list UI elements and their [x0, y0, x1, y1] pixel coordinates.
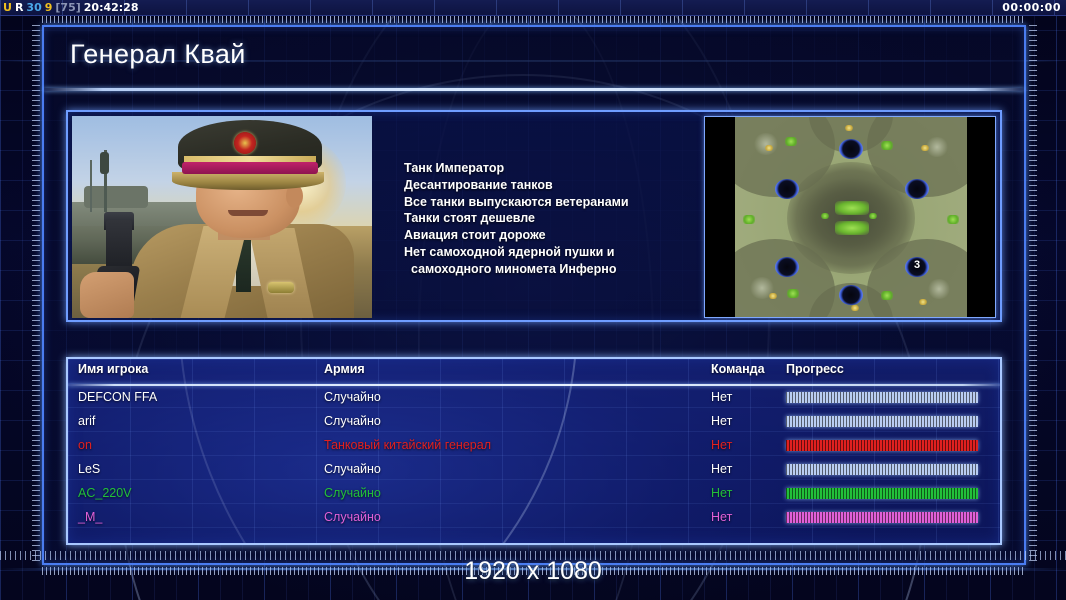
- map-resource: [787, 289, 799, 298]
- table-row[interactable]: arifСлучайноНет: [68, 411, 1000, 435]
- player-name: AC_220V: [78, 486, 132, 500]
- player-team: Нет: [711, 486, 732, 500]
- map-resource: [743, 215, 755, 224]
- map-start-position-6: [839, 285, 863, 305]
- column-header-army: Армия: [324, 362, 365, 376]
- status-segment-4: [75]: [55, 1, 80, 14]
- top-status-bar: UR309[75]20:42:28 00:00:00: [0, 0, 1066, 16]
- player-army: Случайно: [324, 390, 381, 404]
- player-team: Нет: [711, 438, 732, 452]
- map-resource-gold: [851, 305, 859, 311]
- column-header-name: Имя игрока: [78, 362, 148, 376]
- map-terrain-blob: [753, 133, 779, 155]
- table-row[interactable]: LeSСлучайноНет: [68, 459, 1000, 483]
- map-start-position-3: [905, 179, 929, 199]
- map-center-resource: [835, 201, 869, 215]
- map-preview-image: 3: [735, 117, 967, 318]
- portrait-pole-secondary: [90, 160, 92, 212]
- player-progress-fill: [786, 440, 978, 451]
- status-segment-1: R: [15, 1, 23, 14]
- player-list-header-divider: [68, 384, 1000, 386]
- player-team: Нет: [711, 390, 732, 404]
- player-rows: DEFCON FFAСлучайноНетarifСлучайноНетonТа…: [68, 387, 1000, 531]
- player-name: arif: [78, 414, 95, 428]
- player-progress-fill: [786, 464, 978, 475]
- title-area: Генерал Квай: [44, 27, 1024, 87]
- network-status-text: UR309[75]20:42:28: [3, 0, 142, 16]
- player-progress-bar: [786, 512, 978, 523]
- player-name: DEFCON FFA: [78, 390, 157, 404]
- portrait-cap-peak: [172, 172, 324, 190]
- frame-ruler-top: [42, 16, 1026, 23]
- map-start-position-2: [775, 179, 799, 199]
- player-progress-fill: [786, 416, 978, 427]
- game-screen: UR309[75]20:42:28 00:00:00 Генерал Квай: [0, 0, 1066, 600]
- map-resource: [947, 215, 959, 224]
- player-progress-fill: [786, 392, 978, 403]
- status-segment-2: 30: [26, 1, 41, 14]
- title-divider: [44, 88, 1024, 91]
- map-resource-gold: [845, 125, 853, 131]
- player-army: Случайно: [324, 486, 381, 500]
- player-team: Нет: [711, 462, 732, 476]
- map-start-position-label: 3: [905, 259, 929, 271]
- player-progress-bar: [786, 464, 978, 475]
- player-list-header: Имя игрока Армия Команда Прогресс: [68, 359, 1000, 384]
- player-name: LeS: [78, 462, 100, 476]
- player-progress-bar: [786, 392, 978, 403]
- map-start-position-5: 3: [905, 257, 929, 277]
- map-resource: [869, 213, 877, 219]
- table-row[interactable]: AC_220VСлучайноНет: [68, 483, 1000, 507]
- map-preview: 3: [704, 116, 996, 318]
- portrait-cap-band: [182, 162, 318, 174]
- map-resource: [821, 213, 829, 219]
- table-row[interactable]: onТанковый китайский генералНет: [68, 435, 1000, 459]
- map-resource-gold: [765, 145, 773, 151]
- map-center-resource: [835, 221, 869, 235]
- map-resource: [881, 141, 893, 150]
- portrait-mouth: [228, 210, 268, 216]
- map-resource-gold: [769, 293, 777, 299]
- main-frame: Генерал Квай: [42, 25, 1026, 565]
- table-row[interactable]: _M_СлучайноНет: [68, 507, 1000, 531]
- portrait-insignia-badge: [268, 282, 294, 293]
- general-portrait: [72, 116, 372, 318]
- map-resource: [785, 137, 797, 146]
- topbar-grid: [0, 0, 1066, 15]
- player-progress-bar: [786, 416, 978, 427]
- player-progress-fill: [786, 488, 978, 499]
- map-resource-gold: [921, 145, 929, 151]
- portrait-cap-gold-trim: [184, 156, 316, 162]
- player-team: Нет: [711, 510, 732, 524]
- player-progress-bar: [786, 488, 978, 499]
- table-row[interactable]: DEFCON FFAСлучайноНет: [68, 387, 1000, 411]
- map-terrain-blob: [927, 279, 951, 299]
- player-progress-fill: [786, 512, 978, 523]
- status-segment-0: U: [3, 1, 12, 14]
- portrait-cap-emblem: [234, 132, 256, 154]
- portrait-tank-turret: [84, 186, 148, 208]
- player-army: Танковый китайский генерал: [324, 438, 491, 452]
- resolution-label: 1920 x 1080: [0, 557, 1066, 586]
- player-team: Нет: [711, 414, 732, 428]
- map-start-position-1: [839, 139, 863, 159]
- player-progress-bar: [786, 440, 978, 451]
- column-header-team: Команда: [711, 362, 765, 376]
- player-name: on: [78, 438, 92, 452]
- player-name: _M_: [78, 510, 102, 524]
- column-header-progress: Прогресс: [786, 362, 844, 376]
- player-army: Случайно: [324, 414, 381, 428]
- map-resource: [881, 291, 893, 300]
- portrait-hand: [80, 272, 134, 318]
- map-start-position-4: [775, 257, 799, 277]
- frame-ruler-right: [1029, 25, 1037, 565]
- player-army: Случайно: [324, 462, 381, 476]
- player-list-panel: Имя игрока Армия Команда Прогресс DEFCON…: [66, 357, 1002, 545]
- general-info-panel: Танк ИмператорДесантирование танковВсе т…: [66, 110, 1002, 322]
- game-timer: 00:00:00: [1002, 0, 1061, 16]
- player-army: Случайно: [324, 510, 381, 524]
- page-title: Генерал Квай: [70, 39, 246, 70]
- portrait-background-figure: [100, 152, 109, 174]
- frame-ruler-left: [32, 25, 40, 565]
- status-segment-3: 9: [45, 1, 53, 14]
- status-segment-5: 20:42:28: [84, 1, 139, 14]
- map-resource-gold: [919, 299, 927, 305]
